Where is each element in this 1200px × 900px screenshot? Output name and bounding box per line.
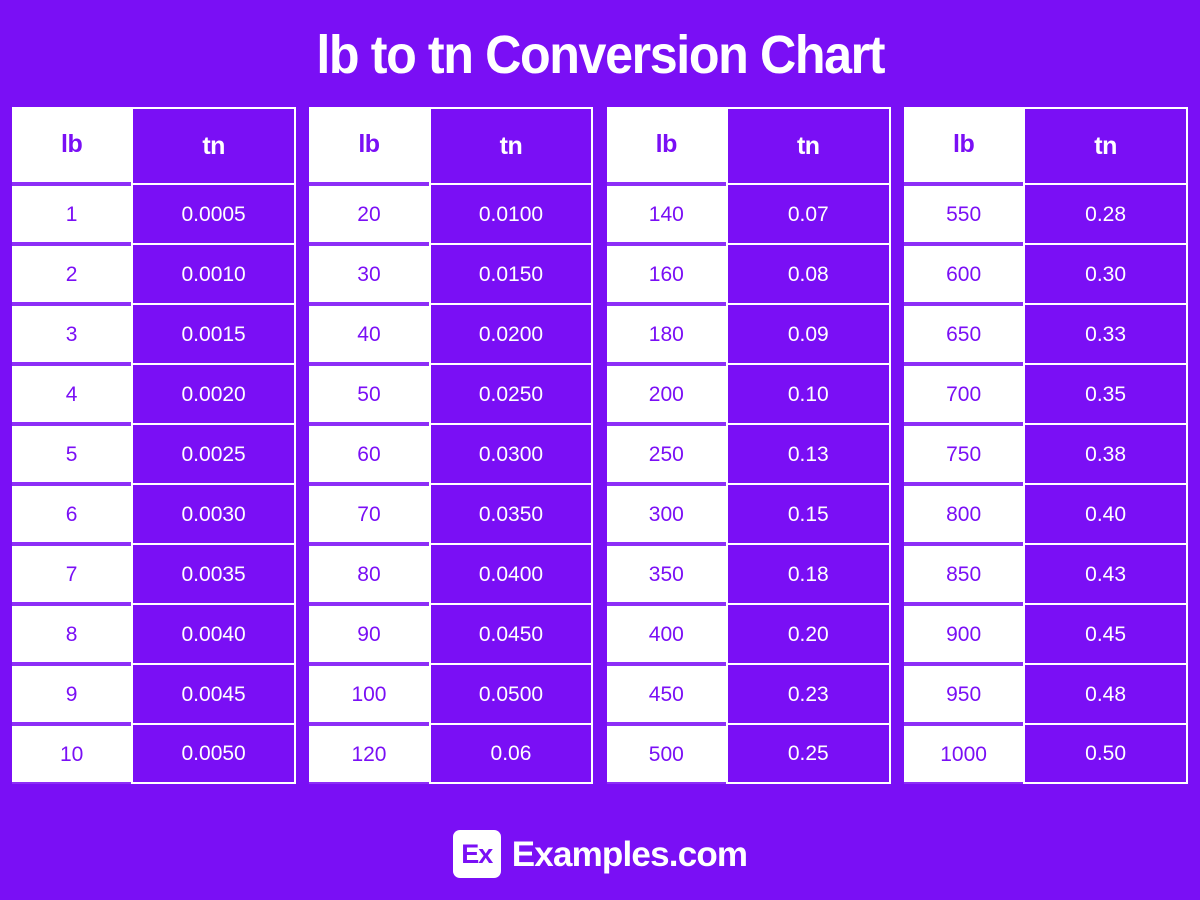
cell-lb-value: 800 [904, 484, 1023, 544]
examples-logo-text: Examples.com [512, 837, 748, 872]
page-title: lb to tn Conversion Chart [316, 26, 884, 85]
cell-lb-value: 40 [309, 304, 428, 364]
table-row: 30.0015 [12, 304, 296, 364]
cell-lb-value: 160 [607, 244, 726, 304]
cell-tn-value: 0.13 [726, 424, 891, 484]
cell-lb-value: 70 [309, 484, 428, 544]
cell-tn-value: 0.0500 [429, 664, 594, 724]
cell-tn-value: 0.23 [726, 664, 891, 724]
cell-tn-value: 0.43 [1023, 544, 1188, 604]
conversion-table-1: lbtn10.000520.001030.001540.002050.00256… [12, 107, 296, 784]
cell-lb-value: 30 [309, 244, 428, 304]
cell-lb-value: 4 [12, 364, 131, 424]
table-row: 90.0045 [12, 664, 296, 724]
cell-lb-value: 300 [607, 484, 726, 544]
column-header-lb: lb [309, 107, 428, 184]
cell-tn-value: 0.0050 [131, 724, 296, 784]
cell-tn-value: 0.33 [1023, 304, 1188, 364]
cell-lb-value: 650 [904, 304, 1023, 364]
cell-tn-value: 0.18 [726, 544, 891, 604]
cell-lb-value: 100 [309, 664, 428, 724]
cell-tn-value: 0.0040 [131, 604, 296, 664]
cell-lb-value: 3 [12, 304, 131, 364]
table-row: 70.0035 [12, 544, 296, 604]
cell-tn-value: 0.0015 [131, 304, 296, 364]
table-row: 8000.40 [904, 484, 1188, 544]
cell-lb-value: 900 [904, 604, 1023, 664]
cell-lb-value: 700 [904, 364, 1023, 424]
table-row: 3500.18 [607, 544, 891, 604]
table-row: 6000.30 [904, 244, 1188, 304]
cell-tn-value: 0.35 [1023, 364, 1188, 424]
cell-lb-value: 8 [12, 604, 131, 664]
cell-tn-value: 0.50 [1023, 724, 1188, 784]
table-header-row: lbtn [309, 107, 593, 184]
cell-tn-value: 0.0035 [131, 544, 296, 604]
table-row: 700.0350 [309, 484, 593, 544]
cell-lb-value: 450 [607, 664, 726, 724]
cell-tn-value: 0.45 [1023, 604, 1188, 664]
cell-tn-value: 0.0200 [429, 304, 594, 364]
table-row: 9500.48 [904, 664, 1188, 724]
cell-tn-value: 0.0250 [429, 364, 594, 424]
conversion-table-3: lbtn1400.071600.081800.092000.102500.133… [607, 107, 891, 784]
cell-lb-value: 9 [12, 664, 131, 724]
cell-tn-value: 0.0010 [131, 244, 296, 304]
table-row: 200.0100 [309, 184, 593, 244]
cell-lb-value: 20 [309, 184, 428, 244]
cell-tn-value: 0.20 [726, 604, 891, 664]
cell-tn-value: 0.08 [726, 244, 891, 304]
table-row: 7000.35 [904, 364, 1188, 424]
table-row: 4000.20 [607, 604, 891, 664]
table-row: 4500.23 [607, 664, 891, 724]
table-row: 300.0150 [309, 244, 593, 304]
cell-tn-value: 0.28 [1023, 184, 1188, 244]
table-row: 1000.0500 [309, 664, 593, 724]
table-header-row: lbtn [904, 107, 1188, 184]
cell-tn-value: 0.40 [1023, 484, 1188, 544]
table-row: 40.0020 [12, 364, 296, 424]
table-row: 1400.07 [607, 184, 891, 244]
cell-lb-value: 1 [12, 184, 131, 244]
table-row: 3000.15 [607, 484, 891, 544]
cell-lb-value: 500 [607, 724, 726, 784]
cell-tn-value: 0.0100 [429, 184, 594, 244]
column-header-lb: lb [607, 107, 726, 184]
cell-tn-value: 0.0150 [429, 244, 594, 304]
cell-lb-value: 200 [607, 364, 726, 424]
cell-lb-value: 6 [12, 484, 131, 544]
cell-lb-value: 2 [12, 244, 131, 304]
cell-tn-value: 0.0030 [131, 484, 296, 544]
table-row: 50.0025 [12, 424, 296, 484]
tables-container: lbtn10.000520.001030.001540.002050.00256… [12, 107, 1188, 784]
cell-tn-value: 0.48 [1023, 664, 1188, 724]
table-row: 10.0005 [12, 184, 296, 244]
cell-lb-value: 10 [12, 724, 131, 784]
cell-lb-value: 90 [309, 604, 428, 664]
table-row: 10000.50 [904, 724, 1188, 784]
cell-tn-value: 0.38 [1023, 424, 1188, 484]
cell-tn-value: 0.0350 [429, 484, 594, 544]
table-row: 80.0040 [12, 604, 296, 664]
cell-tn-value: 0.25 [726, 724, 891, 784]
cell-lb-value: 550 [904, 184, 1023, 244]
cell-tn-value: 0.30 [1023, 244, 1188, 304]
cell-tn-value: 0.0300 [429, 424, 594, 484]
table-row: 5000.25 [607, 724, 891, 784]
column-header-lb: lb [12, 107, 131, 184]
table-row: 2000.10 [607, 364, 891, 424]
cell-lb-value: 850 [904, 544, 1023, 604]
cell-lb-value: 400 [607, 604, 726, 664]
table-row: 800.0400 [309, 544, 593, 604]
table-row: 1600.08 [607, 244, 891, 304]
cell-lb-value: 5 [12, 424, 131, 484]
conversion-table-2: lbtn200.0100300.0150400.0200500.0250600.… [309, 107, 593, 784]
footer-branding: Ex Examples.com [0, 830, 1200, 878]
cell-lb-value: 120 [309, 724, 428, 784]
cell-lb-value: 50 [309, 364, 428, 424]
table-row: 500.0250 [309, 364, 593, 424]
table-row: 7500.38 [904, 424, 1188, 484]
examples-logo-icon: Ex [453, 830, 501, 878]
table-row: 5500.28 [904, 184, 1188, 244]
cell-tn-value: 0.09 [726, 304, 891, 364]
cell-lb-value: 7 [12, 544, 131, 604]
table-header-row: lbtn [12, 107, 296, 184]
table-row: 2500.13 [607, 424, 891, 484]
column-header-tn: tn [1023, 107, 1188, 184]
cell-tn-value: 0.0025 [131, 424, 296, 484]
conversion-chart-page: lb to tn Conversion Chart lbtn10.000520.… [0, 0, 1200, 900]
table-row: 9000.45 [904, 604, 1188, 664]
table-row: 1200.06 [309, 724, 593, 784]
cell-lb-value: 750 [904, 424, 1023, 484]
cell-lb-value: 60 [309, 424, 428, 484]
cell-lb-value: 350 [607, 544, 726, 604]
conversion-table-4: lbtn5500.286000.306500.337000.357500.388… [904, 107, 1188, 784]
cell-lb-value: 250 [607, 424, 726, 484]
table-row: 8500.43 [904, 544, 1188, 604]
cell-lb-value: 80 [309, 544, 428, 604]
cell-lb-value: 600 [904, 244, 1023, 304]
table-row: 900.0450 [309, 604, 593, 664]
cell-tn-value: 0.07 [726, 184, 891, 244]
cell-tn-value: 0.0450 [429, 604, 594, 664]
cell-tn-value: 0.15 [726, 484, 891, 544]
cell-tn-value: 0.0045 [131, 664, 296, 724]
table-row: 400.0200 [309, 304, 593, 364]
table-header-row: lbtn [607, 107, 891, 184]
table-row: 20.0010 [12, 244, 296, 304]
table-row: 1800.09 [607, 304, 891, 364]
column-header-tn: tn [131, 107, 296, 184]
cell-tn-value: 0.0020 [131, 364, 296, 424]
cell-tn-value: 0.0005 [131, 184, 296, 244]
cell-lb-value: 180 [607, 304, 726, 364]
table-row: 600.0300 [309, 424, 593, 484]
cell-lb-value: 1000 [904, 724, 1023, 784]
cell-tn-value: 0.10 [726, 364, 891, 424]
cell-tn-value: 0.06 [429, 724, 594, 784]
column-header-tn: tn [429, 107, 594, 184]
cell-tn-value: 0.0400 [429, 544, 594, 604]
column-header-lb: lb [904, 107, 1023, 184]
column-header-tn: tn [726, 107, 891, 184]
cell-lb-value: 140 [607, 184, 726, 244]
table-row: 60.0030 [12, 484, 296, 544]
table-row: 100.0050 [12, 724, 296, 784]
table-row: 6500.33 [904, 304, 1188, 364]
cell-lb-value: 950 [904, 664, 1023, 724]
